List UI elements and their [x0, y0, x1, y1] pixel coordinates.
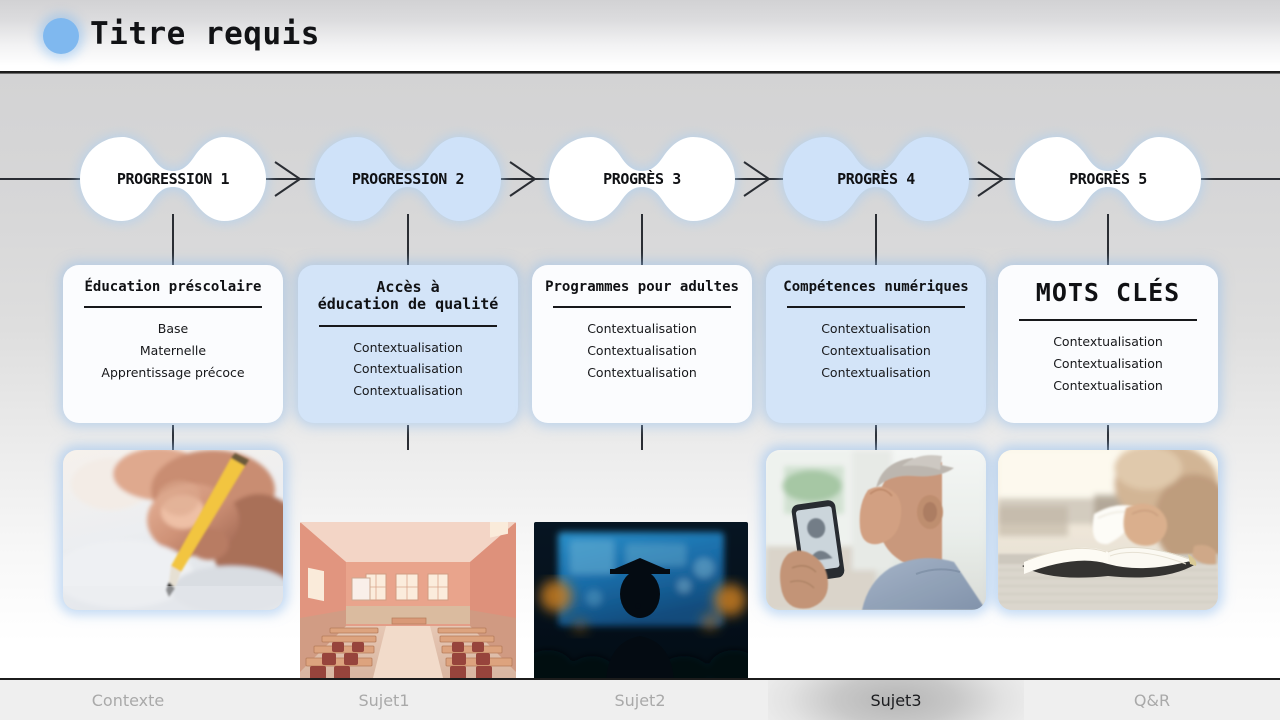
- card-divider: [787, 306, 965, 308]
- list-item: Contextualisation: [545, 318, 739, 340]
- flow-node-1[interactable]: PROGRESSION 1: [80, 137, 266, 221]
- list-item: Contextualisation: [311, 337, 505, 359]
- card-divider: [553, 306, 731, 308]
- graduate-silhouette-photo[interactable]: [534, 522, 748, 678]
- card-title: Accès à éducation de qualité: [311, 279, 505, 314]
- slide-footer-nav: Contexte Sujet1 Sujet2 Sujet3 Q&R: [0, 678, 1280, 720]
- list-item: Base: [76, 318, 270, 340]
- diagram-canvas: PROGRESSION 1 PROGRESSION 2 PROGRÈS 3: [0, 74, 1280, 678]
- flow-node-4[interactable]: PROGRÈS 4: [783, 137, 969, 221]
- bullet-circle-icon: [43, 18, 79, 54]
- footer-tab-contexte[interactable]: Contexte: [0, 680, 256, 720]
- list-item: Contextualisation: [545, 362, 739, 384]
- photo-art: [534, 522, 748, 678]
- card-divider: [319, 325, 497, 327]
- footer-tab-sujet2[interactable]: Sujet2: [512, 680, 768, 720]
- card-item-list: Base Maternelle Apprentissage précoce: [76, 318, 270, 384]
- slide-header: Titre requis: [0, 0, 1280, 72]
- list-item: Apprentissage précoce: [76, 362, 270, 384]
- content-card-3[interactable]: Programmes pour adultes Contextualisatio…: [532, 265, 752, 423]
- flow-node-5[interactable]: PROGRÈS 5: [1015, 137, 1201, 221]
- card-divider: [84, 306, 262, 308]
- card-item-list: Contextualisation Contextualisation Cont…: [779, 318, 973, 384]
- flow-node-label: PROGRESSION 2: [315, 137, 501, 221]
- footer-tab-qr[interactable]: Q&R: [1024, 680, 1280, 720]
- list-item: Contextualisation: [779, 340, 973, 362]
- footer-tab-sujet1[interactable]: Sujet1: [256, 680, 512, 720]
- list-item: Contextualisation: [1011, 353, 1205, 375]
- card-item-list: Contextualisation Contextualisation Cont…: [311, 337, 505, 403]
- content-card-5[interactable]: MOTS CLÉS Contextualisation Contextualis…: [998, 265, 1218, 423]
- content-card-1[interactable]: Éducation préscolaire Base Maternelle Ap…: [63, 265, 283, 423]
- content-card-2[interactable]: Accès à éducation de qualité Contextuali…: [298, 265, 518, 423]
- flow-node-label: PROGRESSION 1: [80, 137, 266, 221]
- list-item: Contextualisation: [1011, 375, 1205, 397]
- photo-art: [63, 450, 283, 610]
- card-title: Programmes pour adultes: [545, 279, 739, 295]
- footer-item-row: Contexte Sujet1 Sujet2 Sujet3 Q&R: [0, 680, 1280, 720]
- person-reading-book-photo[interactable]: [998, 450, 1218, 610]
- list-item: Contextualisation: [311, 358, 505, 380]
- content-card-4[interactable]: Compétences numériques Contextualisation…: [766, 265, 986, 423]
- flow-node-label: PROGRÈS 3: [549, 137, 735, 221]
- list-item: Contextualisation: [311, 380, 505, 402]
- senior-video-call-photo[interactable]: [766, 450, 986, 610]
- slide-root: Titre requis: [0, 0, 1280, 720]
- footer-tab-sujet3[interactable]: Sujet3: [768, 680, 1024, 720]
- list-item: Contextualisation: [545, 340, 739, 362]
- card-item-list: Contextualisation Contextualisation Cont…: [545, 318, 739, 384]
- list-item: Maternelle: [76, 340, 270, 362]
- photo-art: [766, 450, 986, 610]
- list-item: Contextualisation: [1011, 331, 1205, 353]
- list-item: Contextualisation: [779, 318, 973, 340]
- empty-classroom-photo[interactable]: [300, 522, 516, 678]
- card-title: Compétences numériques: [779, 279, 973, 295]
- flow-node-label: PROGRÈS 5: [1015, 137, 1201, 221]
- card-divider: [1019, 319, 1197, 321]
- flow-node-2[interactable]: PROGRESSION 2: [315, 137, 501, 221]
- flow-node-3[interactable]: PROGRÈS 3: [549, 137, 735, 221]
- card-item-list: Contextualisation Contextualisation Cont…: [1011, 331, 1205, 397]
- flow-node-label: PROGRÈS 4: [783, 137, 969, 221]
- card-title: Éducation préscolaire: [76, 279, 270, 295]
- photo-art: [300, 522, 516, 678]
- hand-writing-with-pencil-photo[interactable]: [63, 450, 283, 610]
- page-title: Titre requis: [90, 16, 320, 52]
- list-item: Contextualisation: [779, 362, 973, 384]
- card-title: MOTS CLÉS: [1011, 279, 1205, 308]
- photo-art: [998, 450, 1218, 610]
